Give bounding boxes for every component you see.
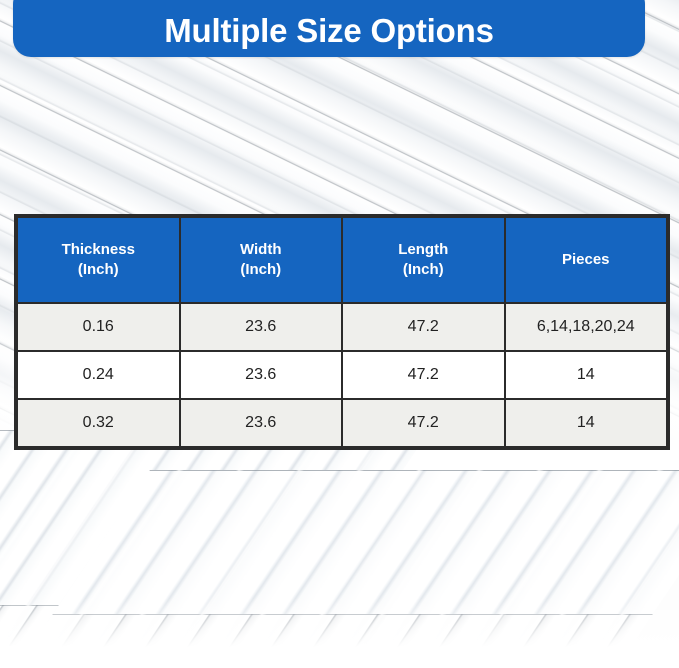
- page-title: Multiple Size Options: [164, 12, 493, 57]
- column-header-pieces: Pieces: [505, 217, 668, 303]
- header-width-line1: Width: [240, 241, 282, 258]
- header-length-line2: (Inch): [347, 260, 500, 280]
- cell-pieces: 6,14,18,20,24: [505, 303, 668, 351]
- title-banner: Multiple Size Options: [13, 0, 645, 57]
- cell-length: 47.2: [342, 351, 505, 399]
- spec-table-header: Thickness (Inch) Width (Inch) Length (In…: [17, 217, 667, 303]
- cell-length: 47.2: [342, 399, 505, 447]
- column-header-width: Width (Inch): [180, 217, 343, 303]
- product-infographic: Multiple Size Options Thickness (Inch) W…: [0, 0, 679, 668]
- spec-table: Thickness (Inch) Width (Inch) Length (In…: [16, 216, 668, 448]
- header-length-line1: Length: [398, 241, 448, 258]
- cell-width: 23.6: [180, 351, 343, 399]
- table-row: 0.24 23.6 47.2 14: [17, 351, 667, 399]
- cell-pieces: 14: [505, 351, 668, 399]
- column-header-length: Length (Inch): [342, 217, 505, 303]
- header-thickness-line2: (Inch): [22, 260, 175, 280]
- table-row: 0.16 23.6 47.2 6,14,18,20,24: [17, 303, 667, 351]
- cell-thickness: 0.32: [17, 399, 180, 447]
- spec-table-body: 0.16 23.6 47.2 6,14,18,20,24 0.24 23.6 4…: [17, 303, 667, 447]
- cell-width: 23.6: [180, 303, 343, 351]
- cell-length: 47.2: [342, 303, 505, 351]
- cell-thickness: 0.16: [17, 303, 180, 351]
- header-pieces-line1: Pieces: [562, 251, 610, 268]
- cell-width: 23.6: [180, 399, 343, 447]
- spec-table-container: Thickness (Inch) Width (Inch) Length (In…: [14, 214, 670, 450]
- table-row: 0.32 23.6 47.2 14: [17, 399, 667, 447]
- header-row: Thickness (Inch) Width (Inch) Length (In…: [17, 217, 667, 303]
- bottom-fade-overlay: [0, 598, 679, 668]
- column-header-thickness: Thickness (Inch): [17, 217, 180, 303]
- header-width-line2: (Inch): [185, 260, 338, 280]
- cell-pieces: 14: [505, 399, 668, 447]
- cell-thickness: 0.24: [17, 351, 180, 399]
- header-thickness-line1: Thickness: [62, 241, 135, 258]
